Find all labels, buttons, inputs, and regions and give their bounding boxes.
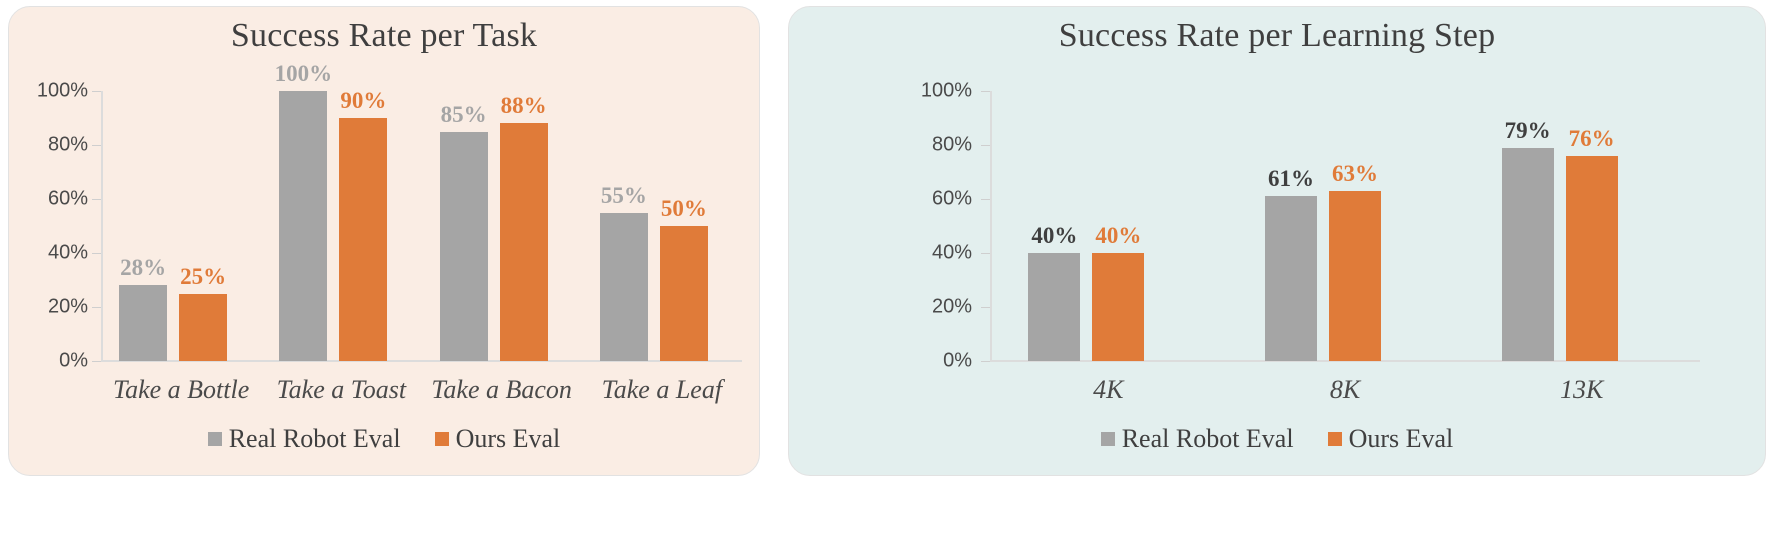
legend-label-real-robot-eval: Real Robot Eval: [1122, 424, 1294, 454]
bar-ours-eval[interactable]: [1566, 156, 1618, 361]
bar-value-label: 50%: [646, 196, 722, 222]
y-axis-tick-label: 60%: [48, 188, 88, 211]
legend-swatch-gray-icon: [208, 432, 222, 446]
y-axis-tick: [981, 91, 990, 92]
bar-value-label: 25%: [165, 264, 241, 290]
legend-right: Real Robot Eval Ours Eval: [788, 422, 1766, 456]
x-axis-category-label: Take a Bottle: [101, 375, 261, 405]
y-axis-tick-label: 0%: [59, 350, 88, 373]
legend-label-real-robot-eval: Real Robot Eval: [229, 424, 401, 454]
bar-value-label: 90%: [325, 88, 401, 114]
x-axis-category-labels-left: Take a BottleTake a ToastTake a BaconTak…: [101, 375, 742, 411]
y-axis-tick-label: 100%: [37, 80, 88, 103]
y-axis-tick-label: 80%: [932, 134, 972, 157]
bar-real-robot-eval[interactable]: [119, 285, 167, 361]
bar-value-label: 100%: [265, 61, 341, 87]
y-axis-tick-label: 0%: [943, 350, 972, 373]
x-axis-category-label: Take a Bacon: [422, 375, 582, 405]
bar-value-label: 40%: [1078, 223, 1158, 249]
legend-label-ours-eval: Ours Eval: [1349, 424, 1454, 454]
y-axis-tick: [92, 145, 101, 146]
x-axis-category-label: 13K: [1463, 375, 1700, 405]
bar-ours-eval[interactable]: [1092, 253, 1144, 361]
bar-ours-eval[interactable]: [660, 226, 708, 361]
bar-real-robot-eval[interactable]: [1502, 148, 1554, 361]
legend-label-ours-eval: Ours Eval: [456, 424, 561, 454]
plot-area-left: 28%25%100%90%85%88%55%50%: [101, 91, 742, 361]
y-axis-tick-label: 20%: [48, 296, 88, 319]
bar-real-robot-eval[interactable]: [600, 213, 648, 362]
y-axis-tick: [981, 307, 990, 308]
bar-value-label: 63%: [1315, 161, 1395, 187]
y-axis-tick-label: 60%: [932, 188, 972, 211]
bar-real-robot-eval[interactable]: [440, 132, 488, 362]
x-axis-category-labels-right: 4K8K13K: [990, 375, 1700, 411]
legend-swatch-orange-icon: [435, 432, 449, 446]
y-axis-tick-label: 80%: [48, 134, 88, 157]
legend-item-real-robot-eval[interactable]: Real Robot Eval: [208, 424, 401, 454]
plot-area-right: 40%40%61%63%79%76%: [990, 91, 1700, 361]
figure-root: Success Rate per Task 0%20%40%60%80%100%…: [0, 0, 1774, 550]
y-axis-tick-label: 20%: [932, 296, 972, 319]
y-axis-tick: [92, 307, 101, 308]
y-axis-tick-label: 40%: [48, 242, 88, 265]
bar-real-robot-eval[interactable]: [279, 91, 327, 361]
y-axis-line-left: [101, 91, 103, 361]
x-axis-category-label: Take a Toast: [261, 375, 421, 405]
bar-real-robot-eval[interactable]: [1265, 196, 1317, 361]
y-axis-labels-right: 0%20%40%60%80%100%: [900, 91, 972, 361]
x-axis-category-label: 4K: [990, 375, 1227, 405]
bar-value-label: 76%: [1552, 126, 1632, 152]
bar-value-label: 88%: [486, 93, 562, 119]
chart-title-right: Success Rate per Learning Step: [789, 17, 1765, 55]
x-axis-category-label: Take a Leaf: [582, 375, 742, 405]
bar-ours-eval[interactable]: [500, 123, 548, 361]
y-axis-tick: [92, 361, 101, 362]
y-axis-tick-label: 100%: [921, 80, 972, 103]
y-axis-tick: [981, 199, 990, 200]
y-axis-tick: [92, 253, 101, 254]
bar-ours-eval[interactable]: [179, 294, 227, 362]
bar-ours-eval[interactable]: [339, 118, 387, 361]
legend-item-ours-eval[interactable]: Ours Eval: [435, 424, 561, 454]
legend-left: Real Robot Eval Ours Eval: [8, 422, 760, 456]
y-axis-tick: [981, 361, 990, 362]
y-axis-tick: [92, 91, 101, 92]
y-axis-tick: [981, 145, 990, 146]
legend-item-real-robot-eval[interactable]: Real Robot Eval: [1101, 424, 1294, 454]
bar-ours-eval[interactable]: [1329, 191, 1381, 361]
legend-swatch-gray-icon: [1101, 432, 1115, 446]
chart-title-left: Success Rate per Task: [9, 17, 759, 55]
y-axis-tick-label: 40%: [932, 242, 972, 265]
y-axis-line-right: [990, 91, 992, 361]
y-axis-labels-left: 0%20%40%60%80%100%: [20, 91, 88, 361]
y-axis-tick: [981, 253, 990, 254]
legend-swatch-orange-icon: [1328, 432, 1342, 446]
x-axis-category-label: 8K: [1227, 375, 1464, 405]
y-axis-tick: [92, 199, 101, 200]
bar-real-robot-eval[interactable]: [1028, 253, 1080, 361]
legend-item-ours-eval[interactable]: Ours Eval: [1328, 424, 1454, 454]
